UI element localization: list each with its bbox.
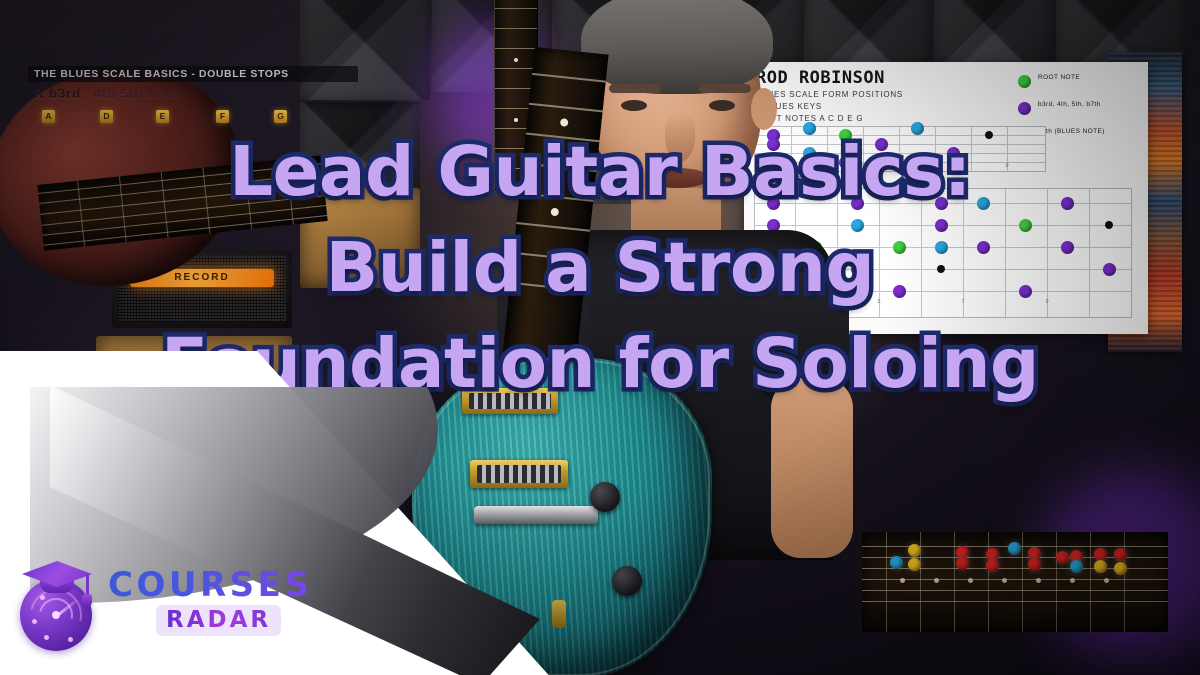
left-slide-subtitle: R b3rd 4th 5th b7th <box>34 86 179 101</box>
guitar-knob-tone <box>612 566 642 596</box>
guitar-pickup-bridge <box>470 460 568 488</box>
legend-dot-root <box>1018 75 1031 88</box>
logo-radar-badge: RADAR <box>156 605 281 636</box>
legend-item: ROOT NOTE <box>1018 74 1138 96</box>
title-line-1: Lead Guitar Basics: <box>0 124 1200 220</box>
note-marker: E <box>156 110 169 123</box>
fretboard-note-overlay <box>862 532 1168 632</box>
note-marker: D <box>100 110 113 123</box>
presenter-brow-right <box>699 84 751 93</box>
note-marker: F <box>216 110 229 123</box>
presenter-eye-right <box>709 100 735 111</box>
presenter-eye-left <box>621 100 647 111</box>
thumbnail-canvas: RECORD MAX THE BLUES SCALE BASICS - DOUB… <box>0 0 1200 675</box>
logo-radar-text: RADAR <box>166 607 271 633</box>
guitar-knob-volume <box>590 482 620 512</box>
guitar-bridge <box>474 506 598 524</box>
presenter-hair <box>581 0 773 94</box>
left-slide-header: THE BLUES SCALE BASICS - DOUBLE STOPS <box>28 66 358 82</box>
graduation-cap-radar-icon <box>14 557 100 649</box>
note-marker: G <box>274 110 287 123</box>
presenter-brow-left <box>609 84 661 93</box>
legend-label: b3rd, 4th, 5th, b7th <box>1038 101 1101 109</box>
title-line-2: Build a Strong <box>0 220 1200 316</box>
legend-dot-scale <box>1018 102 1031 115</box>
legend-item: b3rd, 4th, 5th, b7th <box>1018 101 1138 123</box>
left-slide-subtitle-text: R b3rd <box>34 86 81 101</box>
left-slide-titlebar: THE BLUES SCALE BASICS - DOUBLE STOPS <box>28 66 358 82</box>
guitar-output-jack <box>552 600 566 628</box>
brand-logo[interactable]: COURSES RADAR <box>14 543 282 653</box>
left-slide-subtitle-faded: 4th 5th b7th <box>94 86 180 101</box>
graduation-cap-icon <box>14 561 100 595</box>
logo-courses-text: COURSES <box>108 565 312 605</box>
legend-label: ROOT NOTE <box>1038 74 1080 82</box>
note-marker: A <box>42 110 55 123</box>
